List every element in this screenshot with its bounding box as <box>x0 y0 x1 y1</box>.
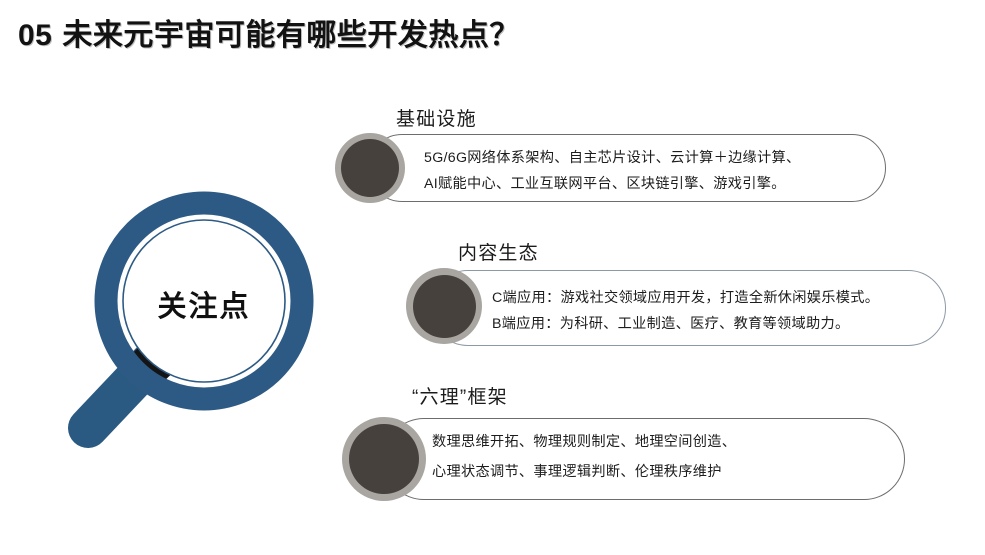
card-infrastructure-bullet-inner <box>341 139 399 197</box>
card-six-principles-line-1: 数理思维开拓、物理规则制定、地理空间创造、 <box>432 428 736 458</box>
card-six-principles-bullet-inner <box>349 424 419 494</box>
card-infrastructure-label: 基础设施 <box>396 104 477 131</box>
card-six-principles-label: “六理”框架 <box>412 382 508 409</box>
card-content-ecosystem-line-2: B端应用：为科研、工业制造、医疗、教育等领域助力。 <box>492 311 879 337</box>
card-six-principles-line-2: 心理状态调节、事理逻辑判断、伦理秩序维护 <box>432 458 736 488</box>
page-title-number: 05 <box>18 19 52 52</box>
card-six-principles-body: 数理思维开拓、物理规则制定、地理空间创造、 心理状态调节、事理逻辑判断、伦理秩序… <box>432 428 736 488</box>
card-infrastructure-body: 5G/6G网络体系架构、自主芯片设计、云计算＋边缘计算、 AI赋能中心、工业互联… <box>424 145 801 198</box>
card-content-ecosystem-label: 内容生态 <box>458 238 539 265</box>
card-infrastructure-bullet <box>335 133 405 203</box>
page-title-text: 未来元宇宙可能有哪些开发热点？ <box>62 19 520 52</box>
magnifier-graphic: 关注点 <box>58 185 348 460</box>
card-content-ecosystem-line-1: C端应用：游戏社交领域应用开发，打造全新休闲娱乐模式。 <box>492 285 879 311</box>
magnifier-icon <box>58 185 348 460</box>
card-content-ecosystem-bullet <box>406 268 482 344</box>
card-content-ecosystem-body: C端应用：游戏社交领域应用开发，打造全新休闲娱乐模式。 B端应用：为科研、工业制… <box>492 285 879 338</box>
page-title: 05未来元宇宙可能有哪些开发热点？ <box>18 10 520 54</box>
card-six-principles-bullet <box>342 417 426 501</box>
card-content-ecosystem-bullet-inner <box>413 275 476 338</box>
card-infrastructure-line-2: AI赋能中心、工业互联网平台、区块链引擎、游戏引擎。 <box>424 171 801 197</box>
card-infrastructure-line-1: 5G/6G网络体系架构、自主芯片设计、云计算＋边缘计算、 <box>424 145 801 171</box>
magnifier-lens-inner-ring <box>123 220 285 382</box>
